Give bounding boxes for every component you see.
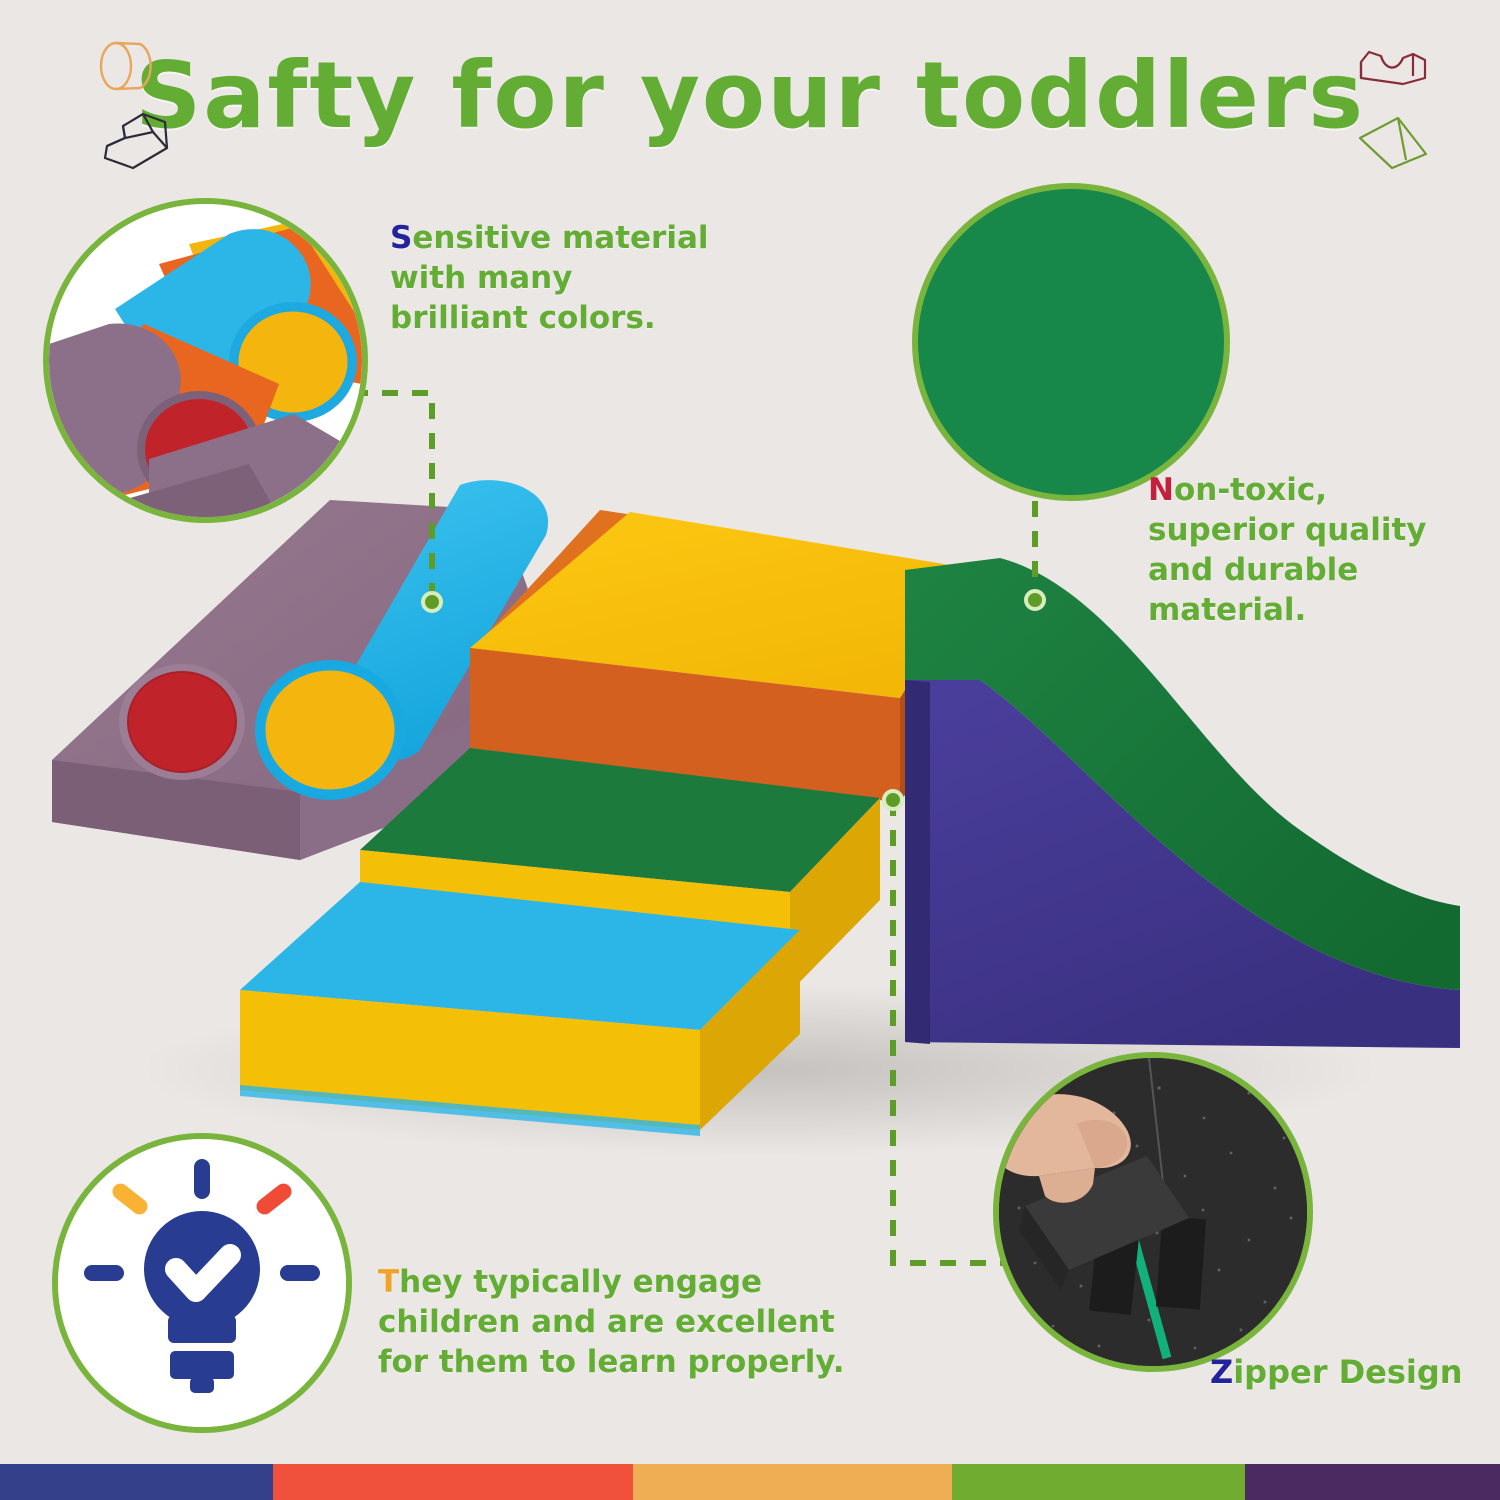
bar-segment-purple xyxy=(1245,1464,1500,1500)
callout-zipper-text: ipper Design xyxy=(1233,1353,1462,1391)
connector-dot-green-slide xyxy=(1024,589,1046,611)
bar-segment-green xyxy=(952,1464,1245,1500)
inset-lightbulb-icon xyxy=(52,1133,352,1433)
callout-non-toxic-first-letter: N xyxy=(1148,472,1174,508)
inset-green-material xyxy=(912,183,1230,501)
callout-sensitive-text: ensitive material with many brilliant co… xyxy=(390,220,709,336)
bottom-color-bar xyxy=(0,1464,1500,1500)
bar-segment-navy xyxy=(0,1464,273,1500)
callout-engage-children: They typically engage children and are e… xyxy=(378,1262,858,1382)
callout-non-toxic-text: on-toxic, superior quality and durable m… xyxy=(1148,472,1427,628)
bar-segment-orange xyxy=(633,1464,952,1500)
callout-sensitive-material: Sensitive material with many brilliant c… xyxy=(390,218,720,338)
callout-engage-first-letter: T xyxy=(378,1264,399,1300)
callout-zipper-first-letter: Z xyxy=(1210,1353,1233,1391)
inset-rollers-closeup xyxy=(43,198,368,523)
callout-zipper-design: Zipper Design xyxy=(1210,1352,1463,1392)
callout-non-toxic: Non-toxic, superior quality and durable … xyxy=(1148,470,1498,630)
connector-dot-roller xyxy=(421,591,443,613)
bar-segment-red xyxy=(273,1464,633,1500)
infographic-canvas: Safty for your toddlers xyxy=(0,0,1500,1500)
callout-engage-text: hey typically engage children and are ex… xyxy=(378,1264,845,1380)
callout-sensitive-first-letter: S xyxy=(390,220,412,256)
connector-dot-zipper xyxy=(882,789,904,811)
inset-zipper-closeup xyxy=(993,1052,1313,1372)
lightbulb-check-icon xyxy=(58,1139,346,1427)
